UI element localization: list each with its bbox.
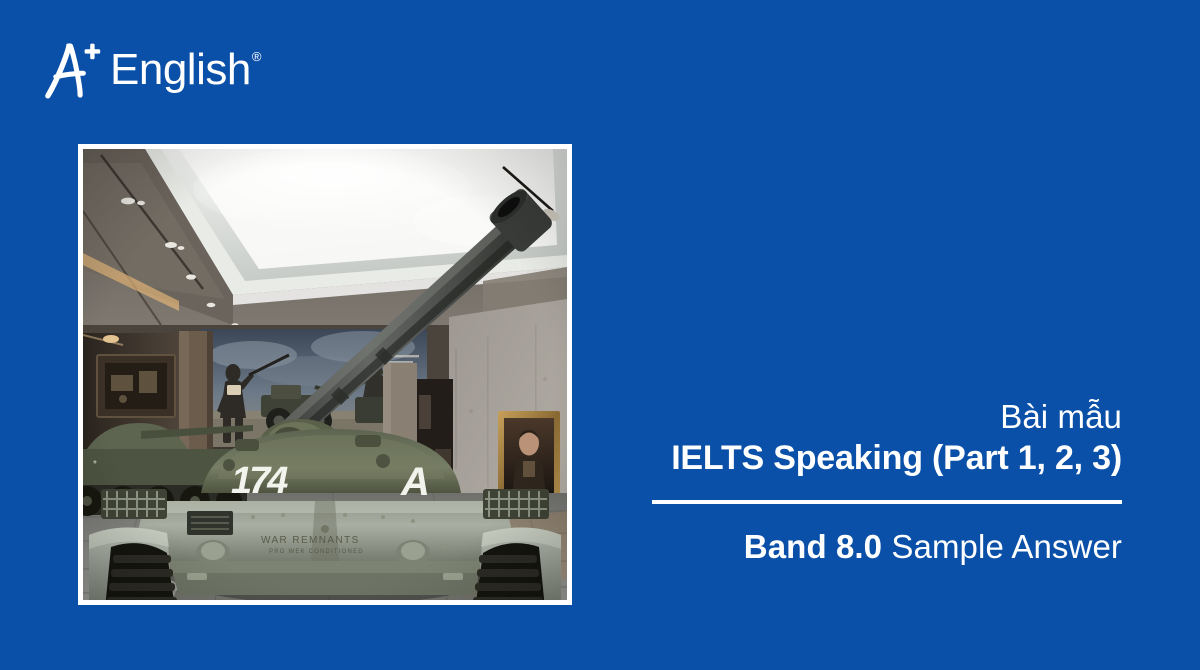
- headline-eyebrow: Bài mẫu: [652, 398, 1122, 437]
- brand-wordmark-text: English: [110, 45, 251, 94]
- brand-logo[interactable]: English®: [38, 34, 298, 106]
- brand-wordmark: English®: [110, 48, 260, 92]
- museum-scene-illustration: *: [83, 149, 567, 600]
- museum-tank-photo: *: [78, 144, 572, 605]
- a-plus-logo-icon: [38, 37, 104, 103]
- page-title: IELTS Speaking (Part 1, 2, 3): [652, 437, 1122, 481]
- band-suffix: Sample Answer: [882, 528, 1122, 565]
- divider: [652, 500, 1122, 504]
- band-line: Band 8.0 Sample Answer: [652, 528, 1122, 567]
- poster-canvas: English®: [0, 0, 1200, 670]
- headline-block: Bài mẫu IELTS Speaking (Part 1, 2, 3) Ba…: [652, 398, 1122, 567]
- registered-trademark-icon: ®: [252, 49, 261, 64]
- band-score: Band 8.0: [744, 528, 882, 565]
